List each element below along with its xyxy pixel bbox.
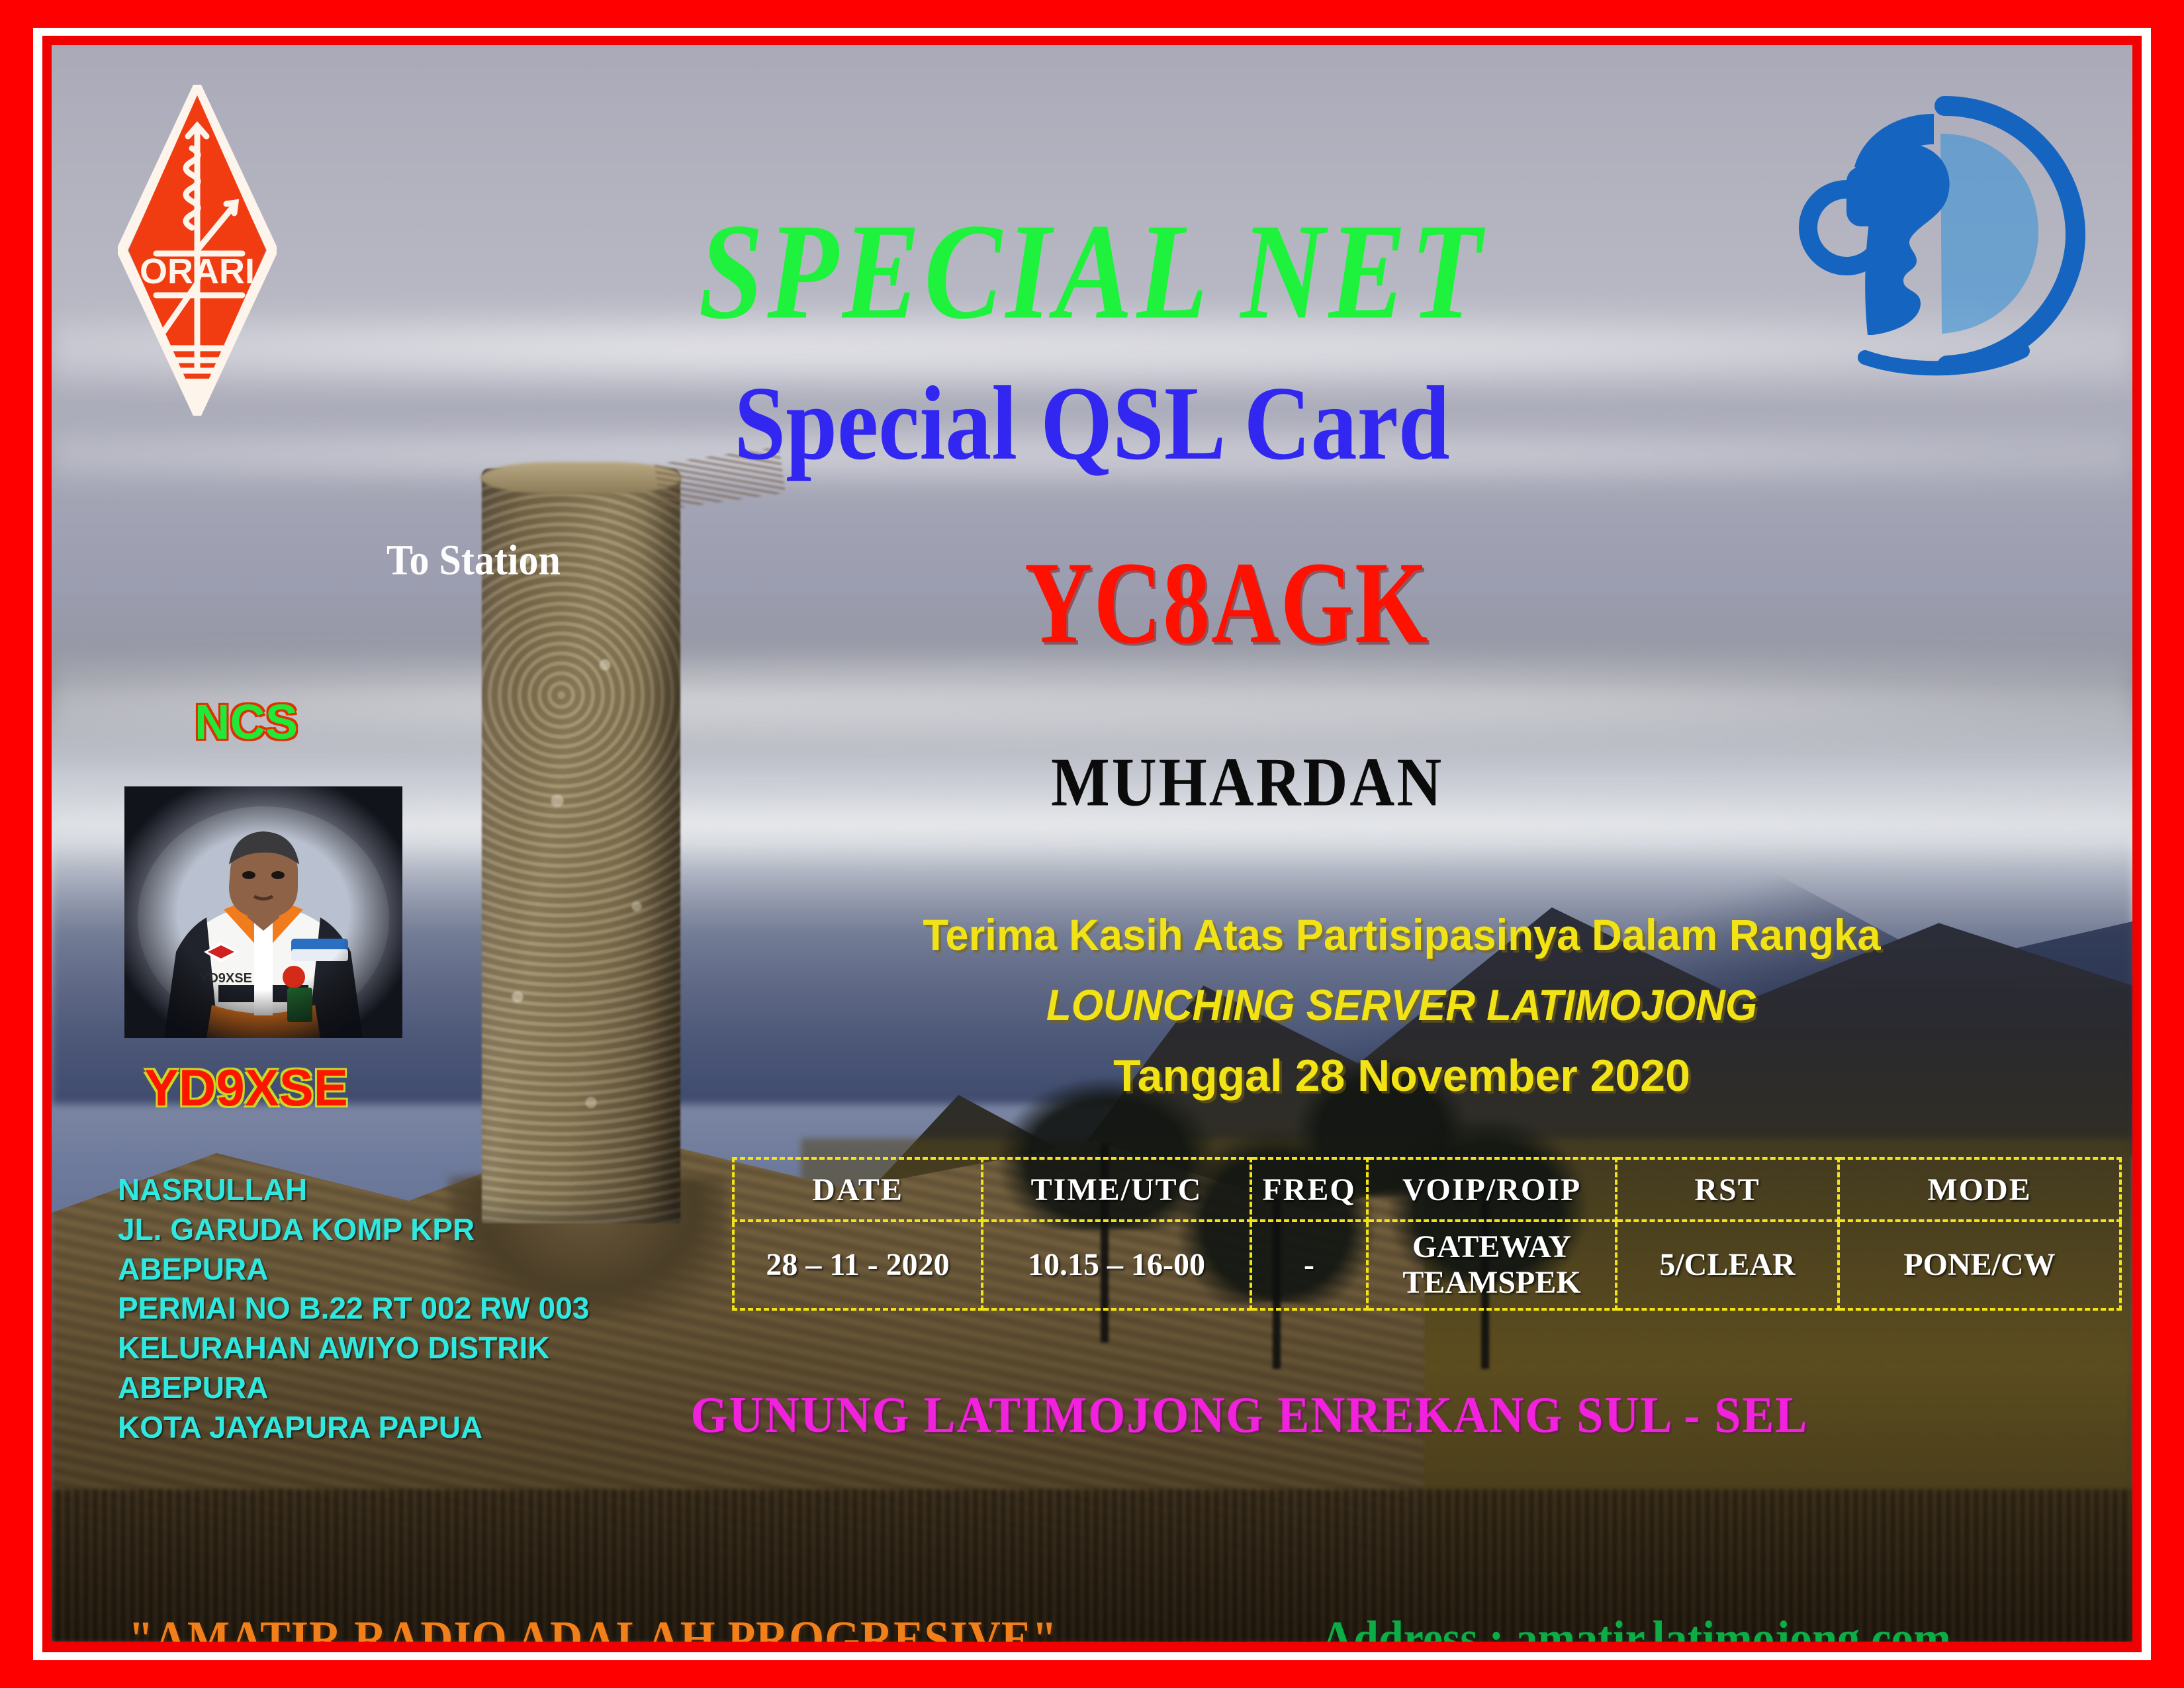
column-header-time-utc: TIME/UTC (982, 1158, 1251, 1221)
address-line: JL. GARUDA KOMP KPR (118, 1210, 660, 1250)
column-header-mode: MODE (1839, 1158, 2120, 1221)
event-line: LOUNCHING SERVER LATIMOJONG (743, 980, 2062, 1030)
qso-log-table: DATE TIME/UTC FREQ VOIP/ROIP RST MODE 28… (732, 1157, 2122, 1311)
ncs-callsign: YD9XSE (144, 1058, 348, 1118)
page-title-special-net: SPECIAL NET (52, 193, 2132, 351)
cell-voip-line2: TEAMSPEK (1369, 1265, 1614, 1301)
address-line: ABEPURA (118, 1250, 660, 1289)
table-row: 28 – 11 - 2020 10.15 – 16-00 - GATEWAY T… (733, 1221, 2120, 1309)
cell-voip: GATEWAY TEAMSPEK (1367, 1221, 1616, 1309)
ncs-label: NCS (195, 694, 298, 750)
page-subtitle-special-qsl-card: Special QSL Card (52, 363, 2132, 485)
table-header-row: DATE TIME/UTC FREQ VOIP/ROIP RST MODE (733, 1158, 2120, 1221)
cell-freq: - (1251, 1221, 1367, 1309)
column-header-voip-roip: VOIP/ROIP (1367, 1158, 1616, 1221)
address-line: PERMAI NO B.22 RT 002 RW 003 (118, 1289, 660, 1329)
station-callsign: YC8AGK (1024, 535, 1430, 671)
column-header-freq: FREQ (1251, 1158, 1367, 1221)
address-line: KELURAHAN AWIYO DISTRIK (118, 1329, 660, 1368)
column-header-date: DATE (733, 1158, 982, 1221)
cell-date: 28 – 11 - 2020 (733, 1221, 982, 1309)
card-photo-area: ORARI SPECIAL NET Special QSL Card To St… (52, 45, 2132, 1642)
event-date-line: Tanggal 28 November 2020 (700, 1050, 2103, 1102)
address-line: NASRULLAH (118, 1170, 660, 1210)
thanks-line: Terima Kasih Atas Partisipasinya Dalam R… (728, 910, 2075, 960)
operator-name: MUHARDAN (1051, 743, 1443, 823)
qsl-card: ORARI SPECIAL NET Special QSL Card To St… (0, 0, 2184, 1688)
cell-mode: PONE/CW (1839, 1221, 2120, 1309)
to-station-label: To Station (387, 536, 561, 585)
web-address-text: Address : amatir.latimojong.com (1321, 1610, 1951, 1642)
ncs-operator-photo: YD9XSE (124, 786, 402, 1038)
cell-rst: 5/CLEAR (1616, 1221, 1839, 1309)
location-line: GUNUNG LATIMOJONG ENREKANG SUL - SEL (555, 1385, 1944, 1445)
column-header-rst: RST (1616, 1158, 1839, 1221)
cell-voip-line1: GATEWAY (1369, 1229, 1614, 1265)
cell-time: 10.15 – 16-00 (982, 1221, 1251, 1309)
motto-text: "AMATIR RADIO ADALAH PROGRESIVE" (128, 1610, 1058, 1642)
